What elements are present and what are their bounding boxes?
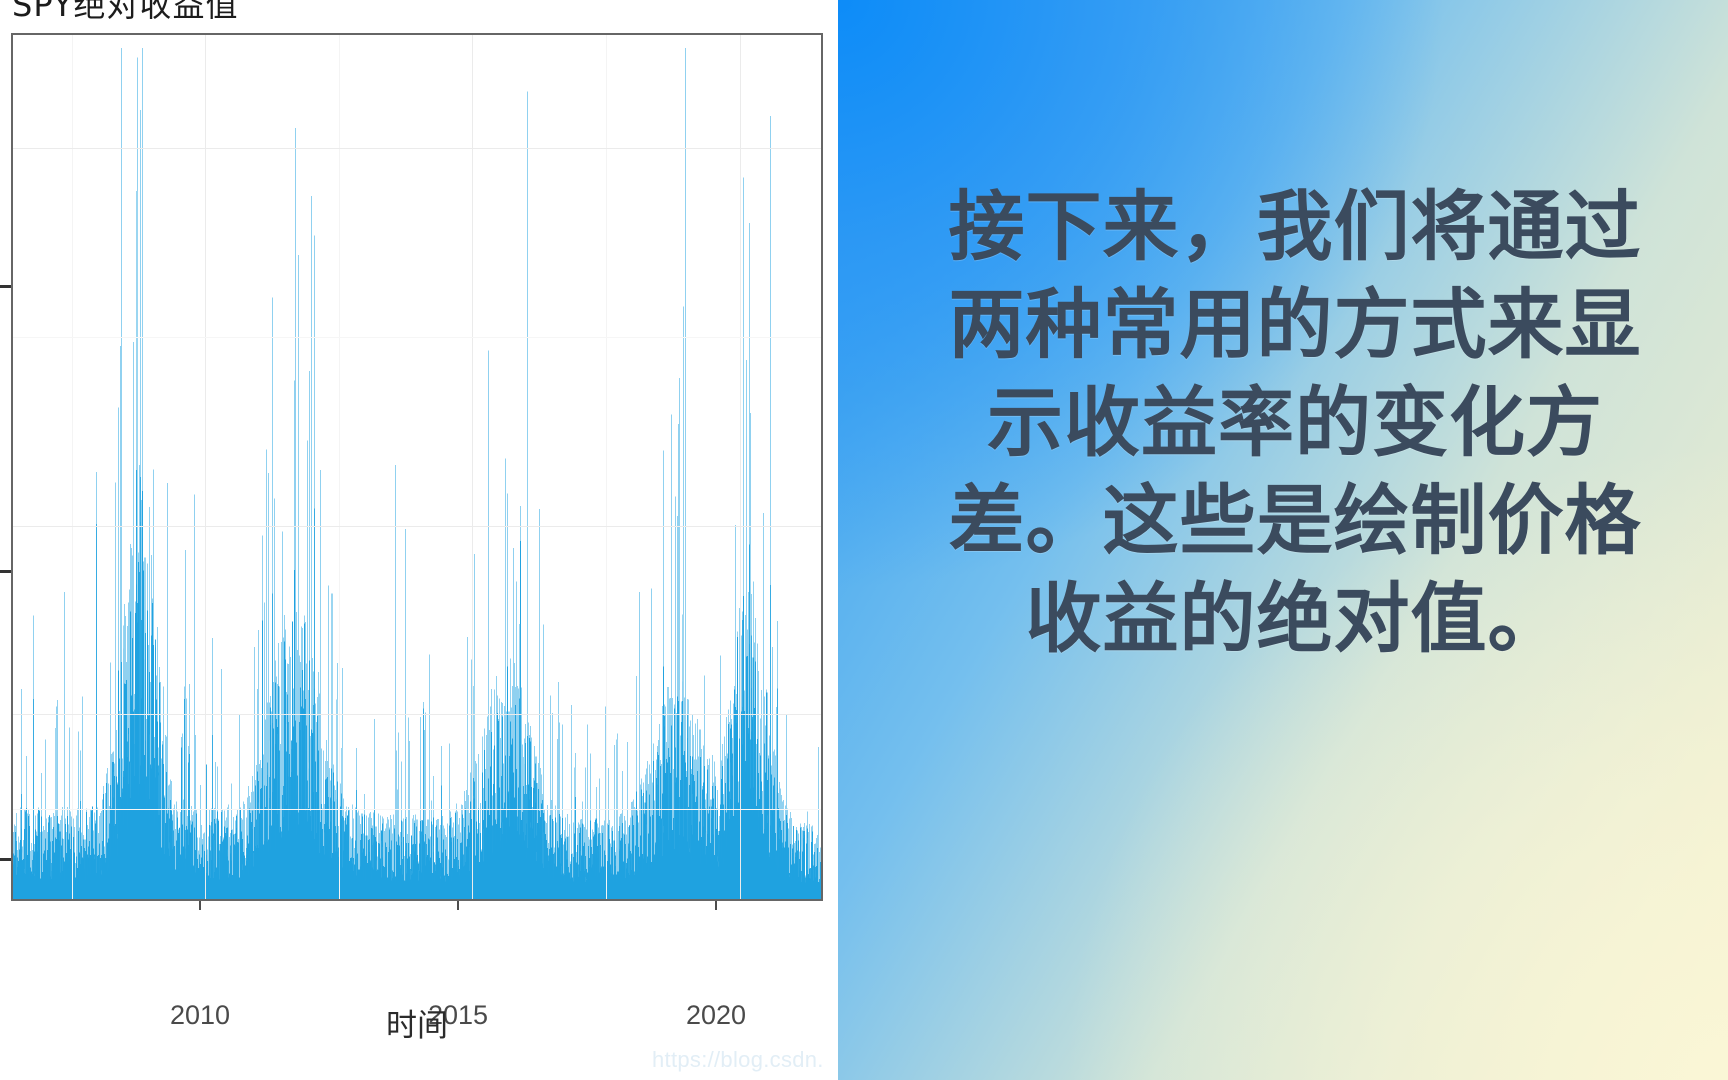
- plot-inner: [13, 35, 821, 899]
- gridline-vertical-minor: [339, 35, 340, 899]
- plot-area: [11, 33, 823, 901]
- xtick-mark-2020: [715, 901, 717, 910]
- caption-text: 接下来，我们将通过两种常用的方式来显示收益率的变化方差。这些是绘制价格收益的绝对…: [838, 178, 1728, 668]
- caption-panel: 接下来，我们将通过两种常用的方式来显示收益率的变化方差。这些是绘制价格收益的绝对…: [838, 0, 1728, 1080]
- xtick-mark-2015: [457, 901, 459, 910]
- gridline-vertical: [472, 35, 473, 899]
- ytick-mark-upper: [0, 285, 11, 288]
- chart-title: SPY绝对收益值: [12, 0, 238, 26]
- gridline-horizontal-minor: [13, 337, 821, 338]
- gridline-vertical: [740, 35, 741, 899]
- slide-root: SPY绝对收益值 2010 2015 2020 时间 https://blog.…: [0, 0, 1728, 1080]
- gridline-vertical-minor: [606, 35, 607, 899]
- x-axis-title: 时间: [11, 1000, 823, 1045]
- series-path: [13, 48, 821, 899]
- gridline-horizontal: [13, 148, 821, 149]
- gridline-horizontal: [13, 714, 821, 715]
- ytick-mark-lower: [0, 858, 11, 861]
- xtick-mark-2010: [199, 901, 201, 910]
- watermark-text: https://blog.csdn.: [652, 1047, 824, 1073]
- ytick-mark-middle: [0, 570, 11, 573]
- series-area-chart: [13, 35, 821, 899]
- gridline-vertical: [205, 35, 206, 899]
- gridline-horizontal-minor: [13, 809, 821, 810]
- gridline-horizontal: [13, 526, 821, 527]
- chart-panel: SPY绝对收益值 2010 2015 2020 时间 https://blog.…: [0, 0, 838, 1080]
- gridline-vertical-minor: [72, 35, 73, 899]
